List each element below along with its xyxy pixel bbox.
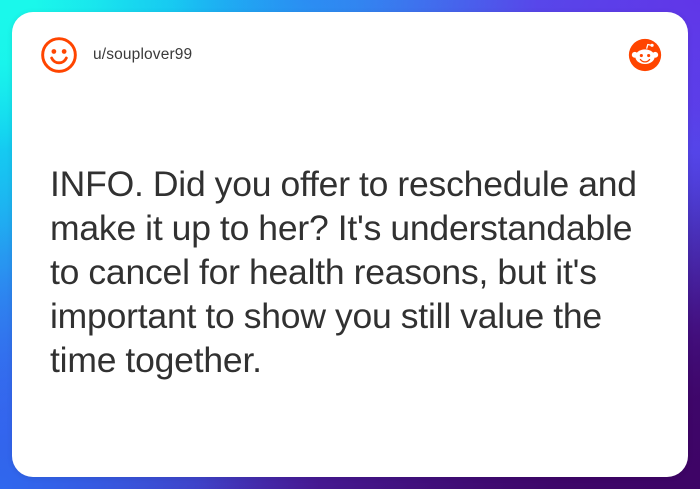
post-header: u/souplover99 (12, 12, 688, 98)
smiley-face-icon (40, 36, 78, 74)
reddit-snoo-icon (628, 38, 662, 72)
post-text: INFO. Did you offer to reschedule and ma… (50, 162, 664, 382)
screenshot-canvas: u/souplover99 (0, 0, 700, 489)
username-label[interactable]: u/souplover99 (93, 46, 192, 64)
reddit-brand-logo (628, 38, 662, 72)
avatar[interactable] (40, 36, 78, 74)
reddit-post-card: u/souplover99 (12, 12, 688, 477)
post-body: INFO. Did you offer to reschedule and ma… (50, 162, 664, 382)
